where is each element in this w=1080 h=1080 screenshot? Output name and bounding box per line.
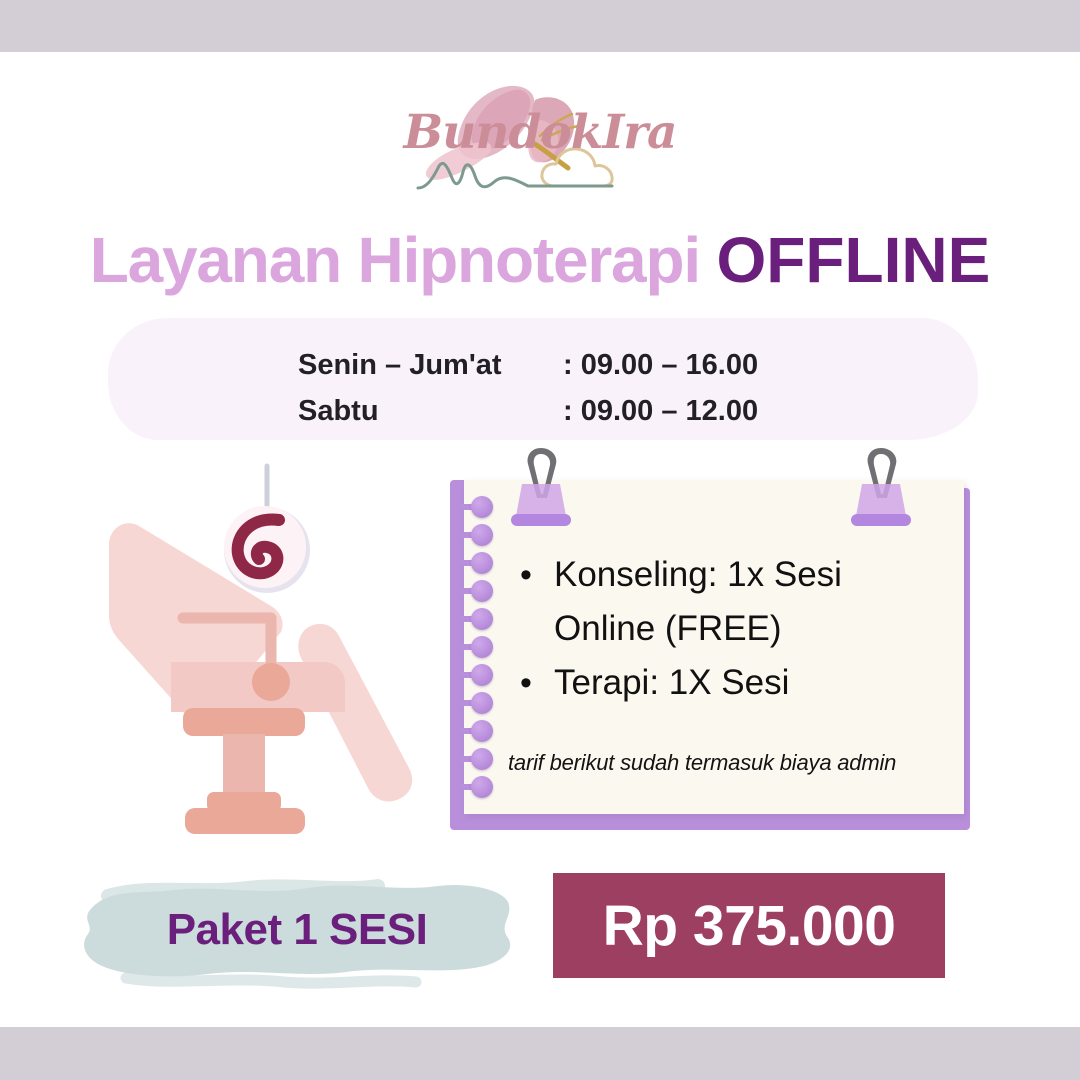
bottom-frame-band	[0, 1027, 1080, 1080]
notepad-ring	[455, 528, 499, 541]
page-title-part1: Layanan Hipnoterapi	[90, 224, 717, 296]
chair-base-plate	[183, 708, 305, 736]
notepad-ring	[455, 584, 499, 597]
chair-footrest	[298, 624, 412, 802]
schedule-day: Senin – Jum'at	[298, 342, 563, 388]
schedule-day: Sabtu	[298, 388, 563, 434]
schedule-table: Senin – Jum'at : 09.00 – 16.00 Sabtu : 0…	[298, 342, 823, 434]
list-item: Online (FREE)	[520, 602, 950, 656]
notepad-rings	[455, 500, 515, 820]
ring-dot	[471, 664, 493, 686]
notepad-ring	[455, 500, 499, 513]
ring-dot	[471, 524, 493, 546]
list-item-label: Online (FREE)	[554, 602, 782, 656]
notepad-ring	[455, 752, 499, 765]
chair-armrest-knob	[252, 663, 290, 701]
list-item: • Terapi: 1X Sesi	[520, 656, 950, 710]
chair-foot-base	[185, 808, 305, 834]
notepad-list: • Konseling: 1x Sesi Online (FREE) • Ter…	[520, 548, 950, 710]
bullet-icon: •	[520, 548, 554, 602]
ring-dot	[471, 580, 493, 602]
ring-dot	[471, 496, 493, 518]
schedule-time: : 09.00 – 12.00	[563, 388, 823, 434]
ring-dot	[471, 608, 493, 630]
notepad-ring	[455, 556, 499, 569]
price-badge: Rp 375.000	[553, 873, 945, 978]
notepad-ring	[455, 612, 499, 625]
package-label: Paket 1 SESI	[78, 905, 516, 955]
notepad-footnote: tarif berikut sudah termasuk biaya admin	[508, 750, 958, 776]
page-title: Layanan Hipnoterapi OFFLINE	[0, 223, 1080, 297]
ring-dot	[471, 552, 493, 574]
price-value: Rp 375.000	[603, 893, 896, 959]
schedule-row: Senin – Jum'at : 09.00 – 16.00	[298, 342, 823, 388]
notepad-ring	[455, 780, 499, 793]
ring-dot	[471, 720, 493, 742]
ring-dot	[471, 692, 493, 714]
notepad-ring	[455, 724, 499, 737]
therapy-chair-illustration	[75, 450, 445, 845]
notepad-ring	[455, 668, 499, 681]
schedule-row: Sabtu : 09.00 – 12.00	[298, 388, 823, 434]
schedule-time: : 09.00 – 16.00	[563, 342, 823, 388]
brand-wordmark: BundokIra	[0, 105, 1080, 160]
notepad-ring	[455, 640, 499, 653]
bullet-icon: •	[520, 656, 554, 710]
list-item: • Konseling: 1x Sesi	[520, 548, 950, 602]
page-title-part2: OFFLINE	[717, 224, 991, 296]
binder-clip-icon	[845, 444, 917, 530]
list-item-label: Terapi: 1X Sesi	[554, 656, 789, 710]
list-item-label: Konseling: 1x Sesi	[554, 548, 842, 602]
binder-clip-icon	[505, 444, 577, 530]
ring-dot	[471, 776, 493, 798]
notepad-ring	[455, 696, 499, 709]
ring-dot	[471, 748, 493, 770]
ring-dot	[471, 636, 493, 658]
top-frame-band	[0, 0, 1080, 52]
chair-column	[223, 734, 265, 796]
